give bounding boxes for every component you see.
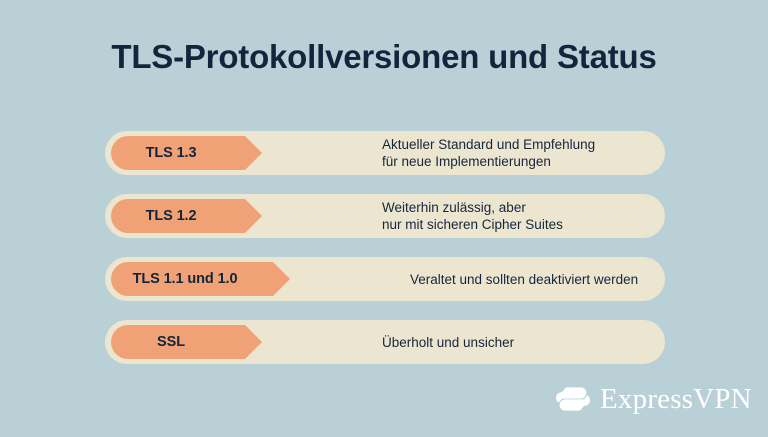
expressvpn-logo: ExpressVPN — [553, 378, 752, 420]
status-line: nur mit sicheren Cipher Suites — [382, 216, 563, 233]
status-line: Aktueller Standard und Empfehlung — [382, 136, 595, 153]
infographic-canvas: TLS-Protokollversionen und Status TLS 1.… — [0, 0, 768, 437]
table-row: SSL Überholt und unsicher — [105, 320, 665, 364]
protocol-version-tag: SSL — [111, 325, 245, 359]
table-row: TLS 1.2 Weiterhin zulässig, aber nur mit… — [105, 194, 665, 238]
protocol-status-text: Überholt und unsicher — [382, 320, 514, 364]
status-line: Weiterhin zulässig, aber — [382, 199, 563, 216]
page-title: TLS-Protokollversionen und Status — [0, 38, 768, 76]
status-line: Veraltet und sollten deaktiviert werden — [410, 271, 638, 288]
expressvpn-e-mark-icon — [553, 379, 593, 419]
protocol-version-tag: TLS 1.3 — [111, 136, 245, 170]
protocol-version-tag: TLS 1.1 und 1.0 — [111, 262, 273, 296]
status-line: für neue Implementierungen — [382, 153, 595, 170]
protocol-status-text: Aktueller Standard und Empfehlung für ne… — [382, 131, 595, 175]
expressvpn-wordmark: ExpressVPN — [600, 385, 752, 414]
table-row: TLS 1.1 und 1.0 Veraltet und sollten dea… — [105, 257, 665, 301]
protocol-row-list: TLS 1.3 Aktueller Standard und Empfehlun… — [105, 131, 665, 364]
status-line: Überholt und unsicher — [382, 334, 514, 351]
protocol-version-tag: TLS 1.2 — [111, 199, 245, 233]
table-row: TLS 1.3 Aktueller Standard und Empfehlun… — [105, 131, 665, 175]
protocol-status-text: Weiterhin zulässig, aber nur mit sichere… — [382, 194, 563, 238]
protocol-status-text: Veraltet und sollten deaktiviert werden — [410, 257, 638, 301]
